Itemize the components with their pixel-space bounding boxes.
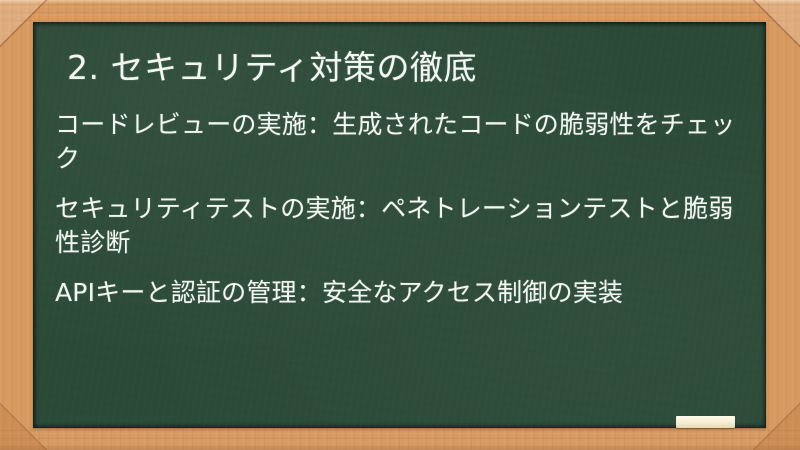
frame-highlight-top	[0, 0, 800, 4]
bullet-list: コードレビューの実施：生成されたコードの脆弱性をチェック セキュリティテストの実…	[55, 108, 748, 326]
chalk-stick-icon	[676, 416, 735, 428]
frame-shadow-bottom	[0, 445, 800, 450]
list-item: コードレビューの実施：生成されたコードの脆弱性をチェック	[55, 108, 748, 176]
chalkboard-slide: 2. セキュリティ対策の徹底 コードレビューの実施：生成されたコードの脆弱性をチ…	[0, 0, 800, 450]
list-item: セキュリティテストの実施：ペネトレーションテストと脆弱性診断	[55, 192, 748, 260]
slide-content: 2. セキュリティ対策の徹底 コードレビューの実施：生成されたコードの脆弱性をチ…	[33, 22, 766, 428]
chalkboard-surface: 2. セキュリティ対策の徹底 コードレビューの実施：生成されたコードの脆弱性をチ…	[33, 22, 766, 428]
page-title: 2. セキュリティ対策の徹底	[67, 48, 742, 88]
list-item: APIキーと認証の管理：安全なアクセス制御の実装	[55, 276, 748, 310]
